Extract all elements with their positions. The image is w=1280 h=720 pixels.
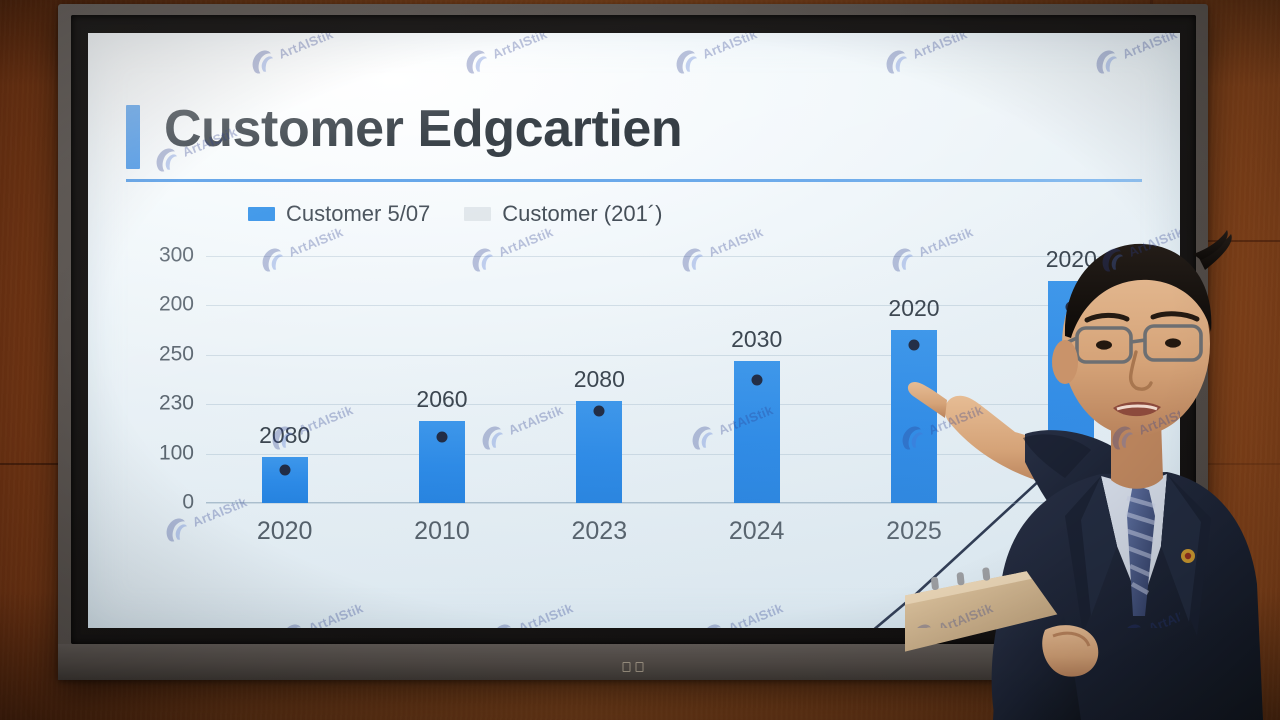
y-axis-tick-label: 0 — [182, 491, 194, 515]
legend-item[interactable]: Customer 5/07 — [248, 201, 430, 227]
x-axis-tick-label: 2023 — [572, 517, 628, 546]
bar-value-label: 2060 — [416, 386, 467, 413]
menu-glyph-icon[interactable] — [636, 662, 644, 672]
slide-title-row: Customer Edgcartien — [126, 99, 1150, 171]
trend-line-marker[interactable] — [437, 432, 448, 443]
y-axis-tick-label: 250 — [159, 342, 194, 366]
x-axis-tick-label: 2020 — [257, 517, 313, 546]
legend-swatch-icon — [464, 207, 491, 221]
trend-line-marker[interactable] — [279, 465, 290, 476]
bar-value-label: 2080 — [574, 366, 625, 393]
legend-label: Customer 5/07 — [286, 201, 430, 227]
title-underline — [126, 179, 1142, 182]
x-axis-tick-label: 2024 — [729, 517, 785, 546]
legend-label: Customer (201´) — [502, 201, 662, 227]
trend-line-marker[interactable] — [594, 405, 605, 416]
title-accent-bar — [126, 105, 140, 169]
bezel-control-glyphs[interactable] — [623, 662, 644, 672]
y-axis-tick-label: 100 — [159, 441, 194, 465]
y-axis-tick-label: 200 — [159, 293, 194, 317]
legend-item[interactable]: Customer (201´) — [464, 201, 662, 227]
chart-category-slot: 20602010 — [363, 256, 520, 503]
power-glyph-icon[interactable] — [623, 662, 631, 672]
y-axis-tick-label: 230 — [159, 392, 194, 416]
presenter — [905, 186, 1280, 720]
bar-value-label: 2080 — [259, 422, 310, 449]
y-axis-tick-label: 300 — [159, 244, 194, 268]
trend-line-marker[interactable] — [751, 374, 762, 385]
chart-category-slot: 20802023 — [521, 256, 678, 503]
x-axis-tick-label: 2010 — [414, 517, 470, 546]
bar-value-label: 2030 — [731, 326, 782, 353]
chart-legend: Customer 5/07Customer (201´) — [248, 201, 662, 227]
legend-swatch-icon — [248, 207, 275, 221]
page-title: Customer Edgcartien — [164, 99, 682, 159]
